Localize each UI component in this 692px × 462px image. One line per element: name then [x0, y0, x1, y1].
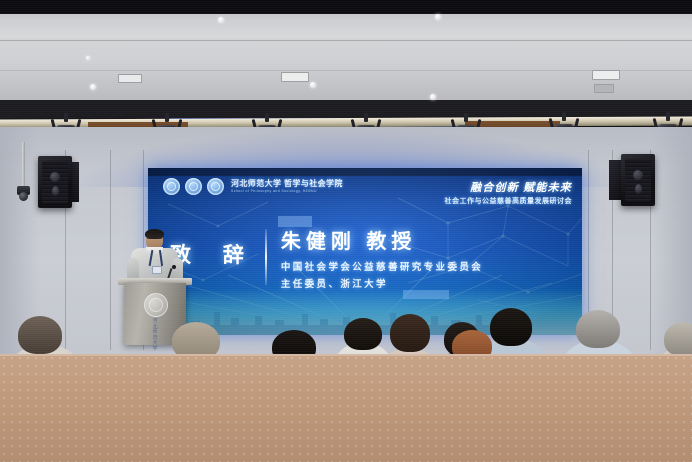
audience-member-7 [490, 308, 532, 346]
barrier-perforation-pattern [0, 354, 692, 462]
university-name: 河北师范大学 哲学与社会学院 [231, 180, 343, 188]
speaker-info-block: 朱健刚 教授 中国社会学会公益慈善研究专业委员会 主任委员、浙江大学 [281, 223, 483, 290]
audience-member-1 [18, 316, 62, 354]
speaker-glasses [147, 238, 162, 242]
foreground-barrier-panel [0, 354, 692, 462]
pa-speaker-left [38, 156, 72, 208]
event-slogan-main: 融合创新 赋能未来 [445, 179, 573, 195]
recessed-light [592, 70, 620, 80]
ceiling-seam [0, 40, 692, 41]
podium-emblem-icon [144, 293, 168, 317]
event-slogan-block: 融合创新 赋能未来 社会工作与公益慈善高质量发展研讨会 [445, 179, 573, 206]
conference-hall-photo: 河北师范大学 哲学与社会学院 School of Philosophy and … [0, 0, 692, 462]
ceiling-seam [0, 70, 692, 71]
recessed-light [281, 72, 309, 82]
wall-panel-seam [110, 150, 111, 350]
emblem-1-icon [163, 178, 180, 195]
ceiling-top-dark-band [0, 0, 692, 14]
ceiling-vent [594, 84, 614, 93]
ceiling-sprinkler [435, 14, 441, 20]
pa-speaker-right [621, 154, 655, 206]
speaker-badge [152, 266, 162, 274]
session-label: 致 辞 [170, 223, 257, 269]
event-slogan-sub: 社会工作与公益慈善高质量发展研讨会 [445, 196, 573, 206]
recessed-light [118, 74, 142, 83]
ceiling-sprinkler [430, 94, 436, 100]
screen-headline: 致 辞 朱健刚 教授 中国社会学会公益慈善研究专业委员会 主任委员、浙江大学 [170, 223, 483, 290]
screen-logo-row: 河北师范大学 哲学与社会学院 School of Philosophy and … [163, 178, 343, 195]
ceiling-sprinkler [218, 17, 224, 23]
audience-member-5 [344, 318, 382, 350]
podium-text: 河北师范大学 [151, 319, 159, 352]
speaker-name: 朱健刚 教授 [281, 225, 483, 254]
audience-member-9 [576, 310, 620, 348]
audience-member-6 [390, 314, 430, 352]
speaker-title-line1: 中国社会学会公益慈善研究专业委员会 [281, 259, 483, 273]
screen-highlight-block [403, 290, 449, 299]
microphone-head [172, 265, 176, 269]
emblem-3-icon [207, 178, 224, 195]
audience-member-10 [664, 322, 692, 356]
security-camera-lens [19, 192, 28, 201]
speaker-title-line2: 主任委员、浙江大学 [281, 276, 483, 290]
ceiling-sprinkler [90, 84, 96, 90]
headline-divider [265, 229, 267, 285]
ceiling-sprinkler [86, 56, 90, 60]
emblem-2-icon [185, 178, 202, 195]
university-name-en: School of Philosophy and Sociology, HEBN… [231, 189, 343, 193]
ceiling-sprinkler [310, 82, 316, 88]
camera-mount-pole [22, 142, 25, 186]
